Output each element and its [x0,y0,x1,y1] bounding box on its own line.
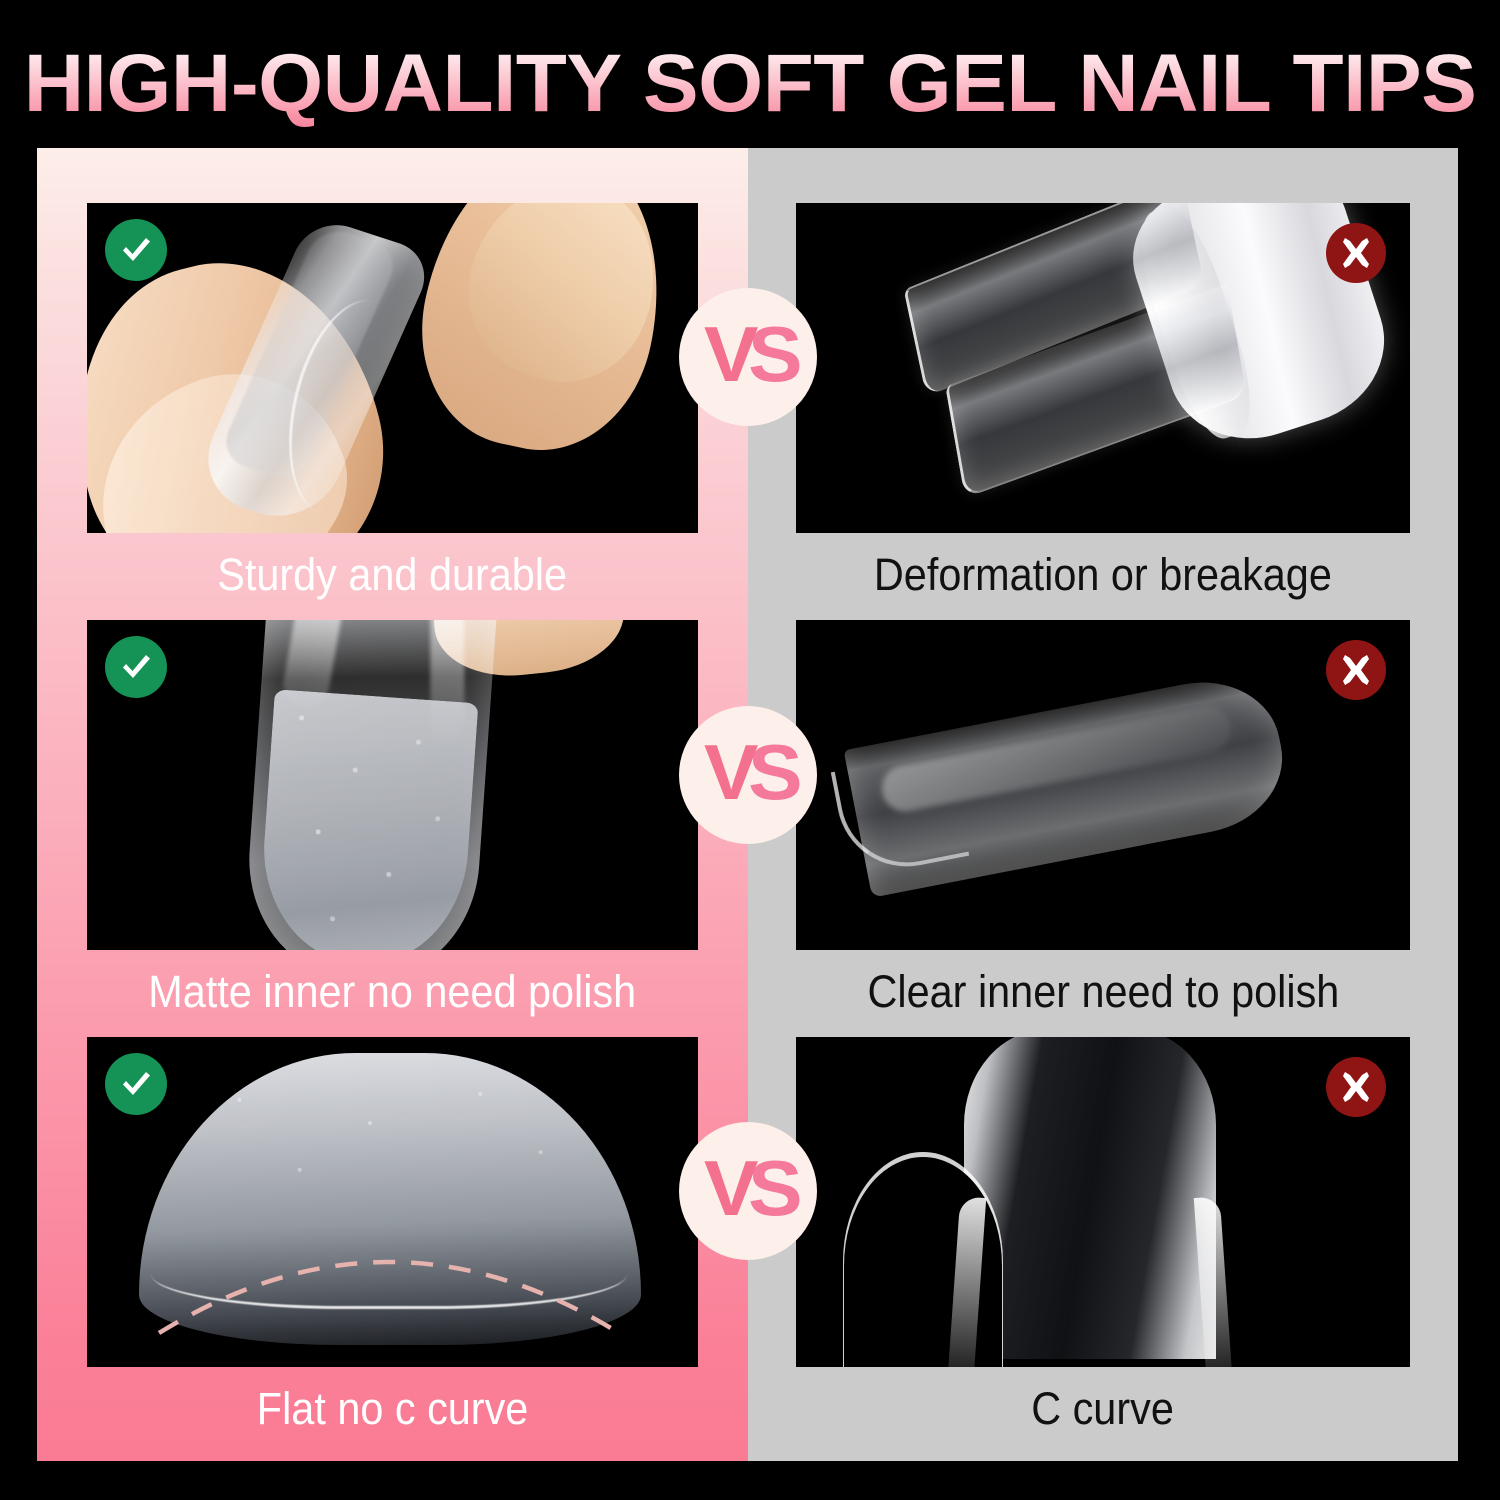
caption-bad-3: C curve [1032,1381,1175,1437]
vs-badge-row-3: VS [679,1122,817,1260]
good-cell-2: Matte inner no need polish [37,620,748,1020]
dashed-reference-curve [147,1163,631,1353]
infographic-page: HIGH-QUALITY SOFT GEL NAIL TIPS [0,0,1500,1500]
coffin-gel-tip [241,620,498,950]
x-icon [1326,640,1386,700]
caption-good-1: Sturdy and durable [218,547,568,603]
vs-badge-row-1: VS [679,288,817,426]
clear-tip-hook-edge [831,750,969,879]
x-icon [1326,223,1386,283]
good-cell-1: Sturdy and durable [37,203,748,603]
caption-bad-1: Deformation or breakage [874,547,1332,603]
finger-right-nail [444,203,683,406]
good-cell-3: Flat no c curve [37,1037,748,1437]
check-icon [105,1053,167,1115]
caption-good-3: Flat no c curve [257,1381,529,1437]
good-column: Sturdy and durable [37,148,748,1461]
title-bar: HIGH-QUALITY SOFT GEL NAIL TIPS [0,36,1500,132]
bad-column: Deformation or breakage Clear inner need… [748,148,1458,1461]
page-title: HIGH-QUALITY SOFT GEL NAIL TIPS [24,37,1477,131]
check-icon [105,219,167,281]
vs-label-2: VS [704,733,792,811]
bad-cell-1: Deformation or breakage [748,203,1458,603]
vs-label-1: VS [704,315,792,393]
vs-badge-row-2: VS [679,706,817,844]
photo-matte-inner-coffin-nail-tip [87,620,698,950]
bad-cell-3: C curve [748,1037,1458,1437]
photo-fingers-bending-flexible-clear-gel-tip [87,203,698,533]
x-icon [1326,1057,1386,1117]
photo-flat-arch-nail-tip-with-dashed-guide [87,1037,698,1367]
matte-inner-surface [256,689,478,950]
caption-bad-2: Clear inner need to polish [867,964,1339,1020]
photo-c-curve-tip-end-on-view [796,1037,1410,1367]
bad-cell-2: Clear inner need to polish [748,620,1458,1020]
finger-right [399,203,686,470]
caption-good-2: Matte inner no need polish [149,964,637,1020]
photo-clear-flat-tip-side-view [796,620,1410,950]
vs-label-3: VS [704,1149,792,1227]
check-icon [105,636,167,698]
photo-broken-square-tips-and-bottle-cap [796,203,1410,533]
